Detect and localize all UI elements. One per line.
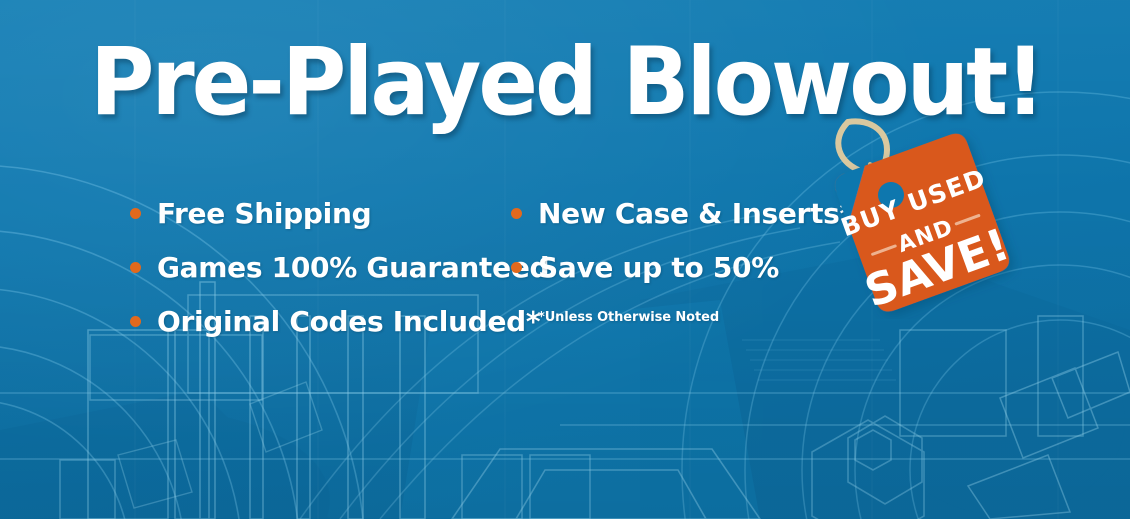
feature-label: Free Shipping [157,197,371,230]
feature-column-right: New Case & Inserts* Save up to 50% *Unle… [511,186,854,325]
list-item: Save up to 50% [511,240,854,294]
orange-dot-bullet-icon [511,208,522,219]
price-tag: BUY USED AND SAVE! [812,104,1022,319]
orange-dot-bullet-icon [130,208,141,219]
disclaimer-footnote: *Unless Otherwise Noted [538,310,854,325]
feature-label: Save up to 50% [538,251,779,284]
list-item: Games 100% Guaranteed [130,240,549,294]
list-item: Free Shipping [130,186,549,240]
orange-dot-bullet-icon [130,262,141,273]
promo-banner: Pre-Played Blowout! Free Shipping Games … [0,0,1130,519]
feature-column-left: Free Shipping Games 100% Guaranteed Orig… [130,186,549,348]
list-item: Original Codes Included* [130,294,549,348]
orange-dot-bullet-icon [511,262,522,273]
feature-label: Original Codes Included* [157,305,540,338]
list-item: New Case & Inserts* [511,186,854,240]
feature-label: Games 100% Guaranteed [157,251,549,284]
orange-dot-bullet-icon [130,316,141,327]
feature-label: New Case & Inserts* [538,197,854,230]
